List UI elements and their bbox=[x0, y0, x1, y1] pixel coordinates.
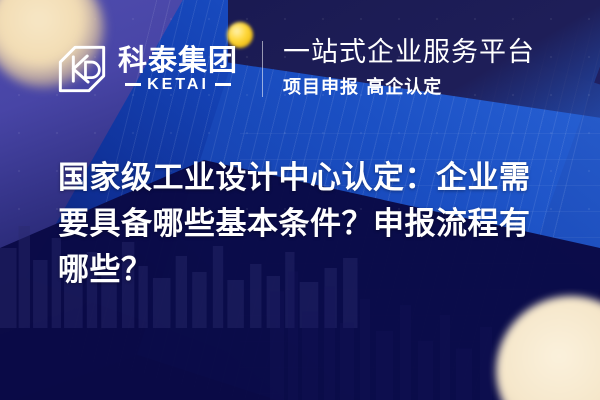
ketai-diamond-kd-logo-icon bbox=[56, 43, 108, 95]
dash-left-icon bbox=[125, 83, 141, 86]
brand-name-en: KETAI bbox=[147, 77, 209, 93]
tagline-sub: 项目申报 高企认定 bbox=[283, 73, 535, 99]
tagline-main: 一站式企业服务平台 bbox=[283, 38, 535, 68]
brand-header: 科泰集团 KETAI 一站式企业服务平台 项目申报 高企认定 bbox=[56, 38, 535, 99]
dash-right-icon bbox=[215, 83, 231, 86]
brand-wordmark: 科泰集团 KETAI bbox=[118, 45, 238, 93]
brand-name-en-row: KETAI bbox=[118, 77, 238, 93]
brand-name-cn: 科泰集团 bbox=[118, 45, 238, 75]
vertical-divider bbox=[262, 41, 263, 97]
promo-banner: 科泰集团 KETAI 一站式企业服务平台 项目申报 高企认定 国家级工业设计中心… bbox=[0, 0, 600, 400]
tagline-block: 一站式企业服务平台 项目申报 高企认定 bbox=[283, 38, 535, 99]
banner-headline: 国家级工业设计中心认定：企业需要具备哪些基本条件？申报流程有哪些？ bbox=[58, 156, 550, 294]
